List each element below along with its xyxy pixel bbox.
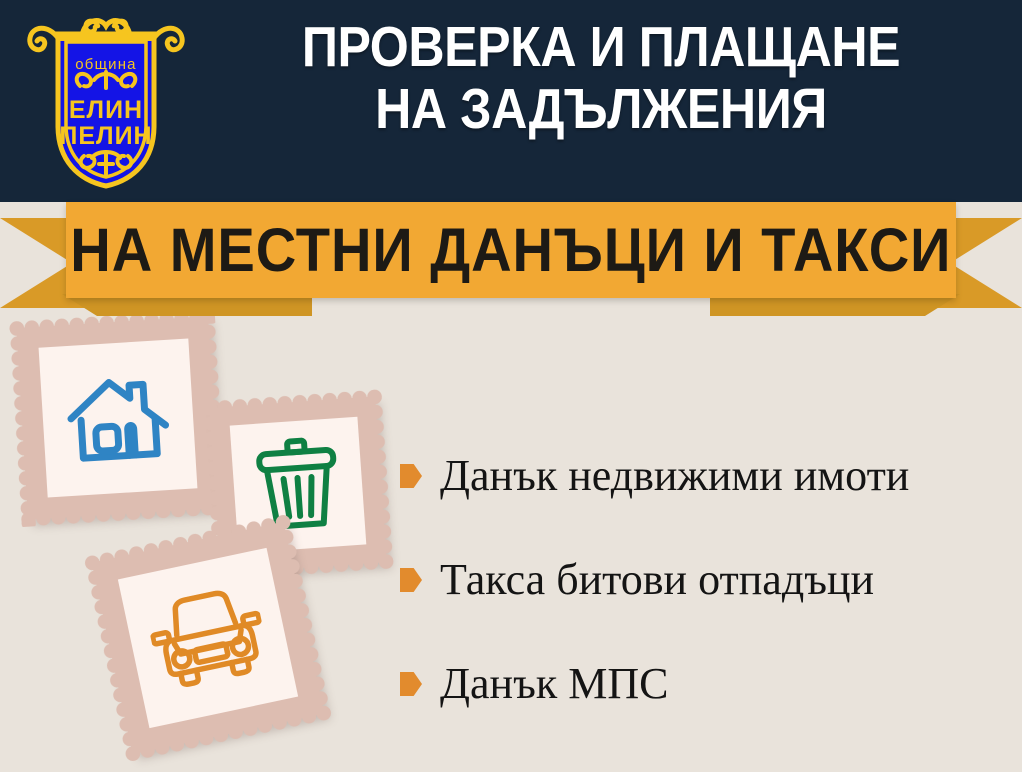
list-item-label: Данък МПС [440, 659, 668, 709]
tax-types-list: Данък недвижими имоти Такса битови отпад… [400, 424, 1010, 736]
list-item[interactable]: Данък недвижими имоти [400, 424, 1010, 528]
ribbon-label: НА МЕСТНИ ДАНЪЦИ И ТАКСИ [70, 219, 951, 281]
logo-name-line1: ЕЛИН [69, 96, 143, 124]
list-item-label: Данък недвижими имоти [440, 451, 909, 501]
stamp-edge-right [367, 389, 395, 570]
page-title: ПРОВЕРКА И ПЛАЩАНЕ НА ЗАДЪЛЖЕНИЯ [239, 16, 962, 140]
list-item[interactable]: Такса битови отпадъци [400, 528, 1010, 632]
stamp-face [118, 548, 298, 728]
stamp-face [39, 339, 198, 498]
arrow-bullet-icon [400, 464, 422, 488]
stamp-card-property [16, 316, 219, 519]
stamp-card-vehicle [92, 522, 324, 754]
poster-canvas: ПРОВЕРКА И ПЛАЩАНЕ НА ЗАДЪЛЖЕНИЯ община [0, 0, 1022, 772]
list-item-label: Такса битови отпадъци [440, 555, 874, 605]
logo-name-line2: ПЕЛИН [59, 122, 152, 150]
house-icon [62, 365, 174, 471]
municipality-coat-of-arms-logo: община ЕЛИН ПЕЛИН [22, 8, 190, 194]
stamp-edge-left [9, 321, 37, 528]
list-item[interactable]: Данък МПС [400, 632, 1010, 736]
arrow-bullet-icon [400, 672, 422, 696]
ribbon-banner: НА МЕСТНИ ДАНЪЦИ И ТАКСИ [0, 196, 1022, 316]
ribbon-body: НА МЕСТНИ ДАНЪЦИ И ТАКСИ [66, 202, 956, 298]
arrow-bullet-icon [400, 568, 422, 592]
car-front-icon [144, 582, 272, 693]
